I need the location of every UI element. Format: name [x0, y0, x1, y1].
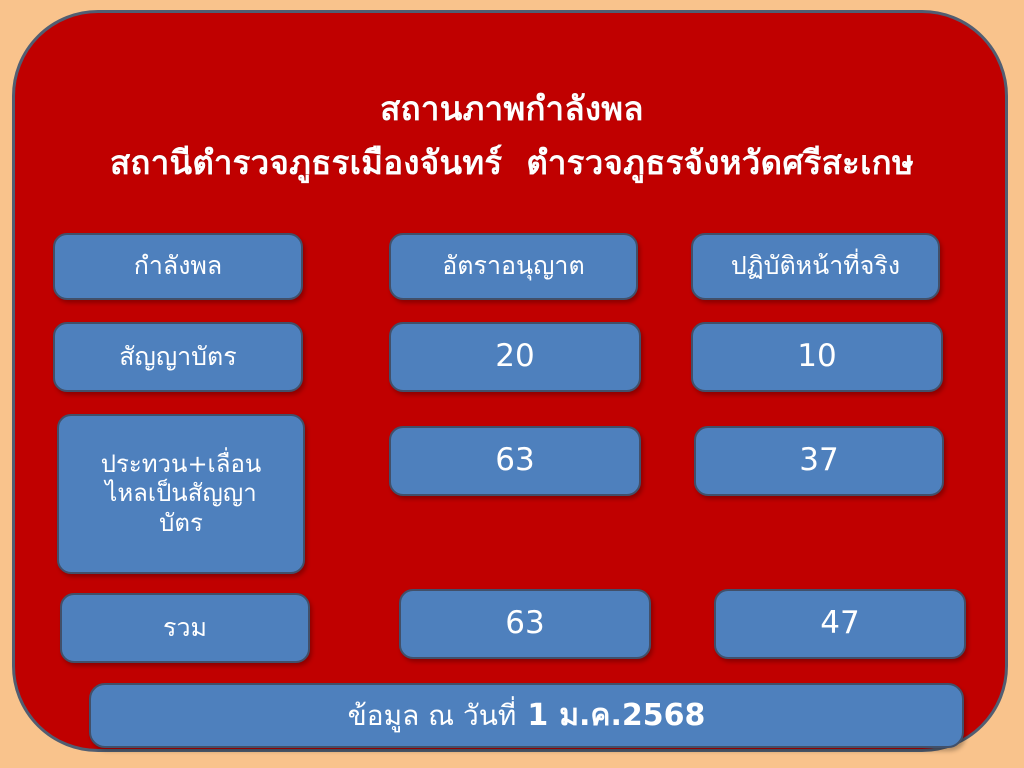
slide-canvas: สถานภาพกำลังพล สถานีตำรวจภูธรเมืองจันทร์…: [0, 0, 1024, 768]
table-row-label-commissioned: สัญญาบัตร: [53, 322, 303, 392]
table-cell-total-actual: 47: [714, 589, 966, 659]
table-cell-commissioned-allowed: 20: [389, 322, 641, 392]
label-line-2: ไหลเป็นสัญญา: [105, 479, 256, 508]
title-block: สถานภาพกำลังพล สถานีตำรวจภูธรเมืองจันทร์…: [0, 88, 1024, 186]
label-line-1: ประทวน+เลื่อน: [101, 450, 262, 479]
subtitle-province: ตำรวจภูธรจังหวัดศรีสะเกษ: [526, 143, 914, 182]
label-line-3: บัตร: [159, 509, 203, 538]
subtitle: สถานีตำรวจภูธรเมืองจันทร์ตำรวจภูธรจังหวั…: [0, 141, 1024, 186]
table-header-actual: ปฏิบัติหน้าที่จริง: [691, 233, 940, 300]
footer-month-year: ม.ค.2568: [559, 692, 705, 739]
subtitle-station: สถานีตำรวจภูธรเมืองจันทร์: [110, 143, 502, 182]
table-cell-commissioned-actual: 10: [691, 322, 943, 392]
footer-day: 1: [527, 698, 548, 733]
table-cell-noncommissioned-actual: 37: [694, 426, 944, 496]
table-row-label-total: รวม: [60, 593, 310, 663]
table-cell-noncommissioned-allowed: 63: [389, 426, 641, 496]
table-cell-total-allowed: 63: [399, 589, 651, 659]
page-title: สถานภาพกำลังพล: [0, 88, 1024, 129]
table-header-allowed: อัตราอนุญาต: [389, 233, 638, 300]
footer-prefix: ข้อมูล ณ วันที่: [348, 694, 517, 738]
footer-date-bar: ข้อมูล ณ วันที่1ม.ค.2568: [89, 683, 964, 748]
table-header-personnel: กำลังพล: [53, 233, 303, 300]
table-row-label-noncommissioned: ประทวน+เลื่อน ไหลเป็นสัญญา บัตร: [57, 414, 305, 574]
